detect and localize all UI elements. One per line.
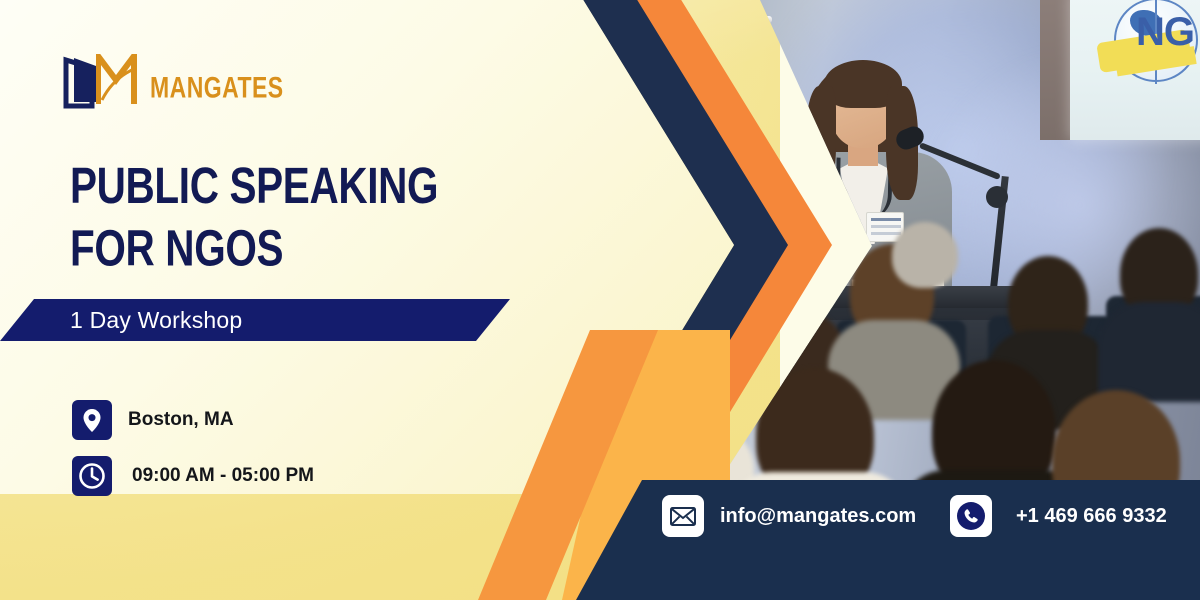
event-banner: NG Public Speaking for NGOS NGO <box>0 0 1200 600</box>
brand-logo[interactable]: MANGATES <box>62 52 272 114</box>
photo-audience-head <box>892 222 958 288</box>
photo-microphone-clutch <box>986 186 1008 208</box>
workshop-ribbon-label: 1 Day Workshop <box>70 307 242 334</box>
page-title: PUBLIC SPEAKING FOR NGOS <box>70 154 502 279</box>
photo-screen-logo-text: NG <box>1136 10 1194 55</box>
email-label: info@mangates.com <box>720 505 916 528</box>
photo-projector-screen: NG <box>1070 0 1200 140</box>
location-pin-icon <box>72 400 112 440</box>
phone-label: +1 469 666 9332 <box>1016 505 1167 528</box>
brand-name: MANGATES <box>150 71 284 105</box>
location-label: Boston, MA <box>128 409 234 431</box>
photo-screen-edge <box>1040 0 1072 140</box>
clock-icon <box>72 456 112 496</box>
time-label: 09:00 AM - 05:00 PM <box>132 465 314 487</box>
envelope-icon <box>662 495 704 537</box>
phone-icon <box>950 495 992 537</box>
logo-m-mark <box>96 54 158 106</box>
photo-audience-shoulders <box>1098 302 1200 402</box>
